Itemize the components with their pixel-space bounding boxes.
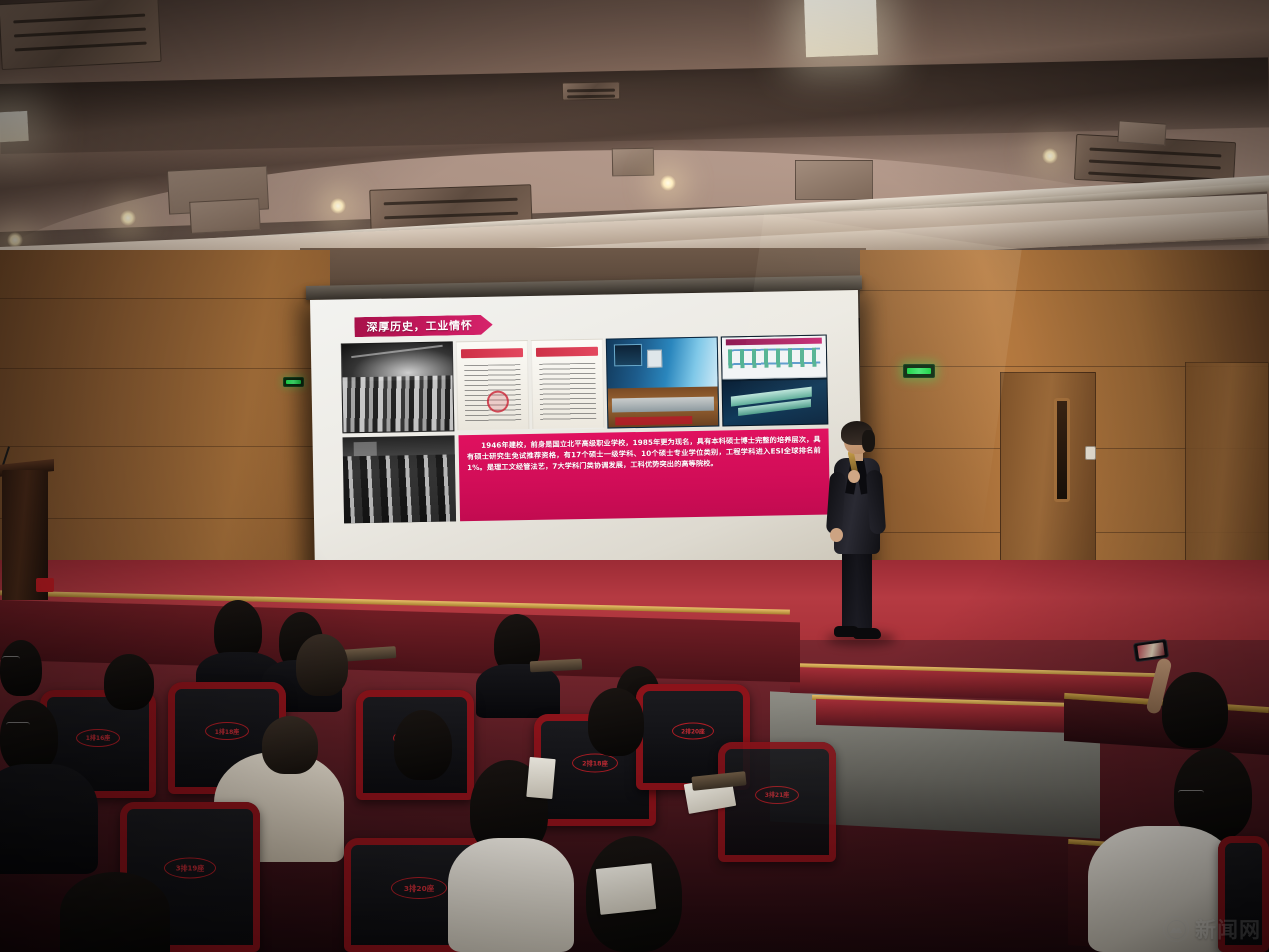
audience-shoulders (0, 764, 98, 874)
presenter-arm-right (866, 470, 886, 535)
ceiling-downlight-1 (120, 210, 136, 226)
projection-screen: 深厚历史，工业情怀 (310, 290, 863, 578)
historic-worksite-photo (343, 435, 457, 523)
audience-shoulders (476, 664, 560, 718)
laboratory-photo (606, 337, 720, 429)
light-switch[interactable] (1085, 446, 1096, 460)
ac-vent-ceiling-4 (562, 81, 620, 100)
seat-number-plate: 1排16座 (76, 729, 120, 747)
ceiling-panel-4 (795, 160, 873, 200)
seat-number-plate: 1排18座 (205, 722, 249, 740)
audience-head (104, 654, 154, 710)
ceiling-panel-5 (1117, 120, 1166, 145)
ceiling-downlight-3 (660, 175, 676, 191)
audience-head (262, 716, 318, 774)
presenter-leg-right (857, 550, 872, 630)
slide-title-banner: 深厚历史，工业情怀 (354, 315, 493, 338)
podium-red-object (36, 578, 54, 592)
presenter-leg-left (842, 550, 857, 630)
ceiling-downlight-4 (1042, 148, 1058, 164)
audience-shoulders-white (448, 838, 574, 952)
presenter-shoe-right (853, 628, 881, 639)
corporation-document (531, 339, 605, 430)
presenter-hand-left (830, 528, 843, 542)
door-window-right (1054, 398, 1070, 502)
process-schematic (721, 335, 829, 427)
slide-photo-row-top (341, 335, 829, 434)
audience-head (588, 688, 644, 756)
eyeglasses (1178, 790, 1204, 796)
seat-number-plate: 3排19座 (164, 858, 216, 879)
ceiling-skylight-panel-left (0, 111, 29, 143)
eyeglasses (2, 656, 20, 662)
news-logo-icon (1163, 916, 1189, 942)
slide-bottom-row: 1946年建校，前身是国立北平高级职业学校，1985年更为现名，具有本科硕士博士… (343, 429, 830, 524)
seat-number-plate: 3排20座 (391, 877, 447, 899)
seat-number-plate: 3排21座 (755, 786, 799, 804)
auditorium-photo-scene: 深厚历史，工业情怀 (0, 0, 1269, 952)
presentation-slide: 深厚历史，工业情怀 (310, 290, 863, 578)
handout-paper (596, 863, 657, 915)
seat-number-plate: 2排20座 (672, 722, 714, 739)
watermark-text: 新闻网 (1195, 914, 1261, 944)
presenter (820, 424, 892, 650)
handout-paper (526, 757, 555, 799)
presenter-hair-side (862, 430, 875, 452)
slide-body-textbox: 1946年建校，前身是国立北平高级职业学校，1985年更为现名，具有本科硕士博士… (459, 429, 831, 522)
watermark: 新闻网 (1163, 914, 1261, 944)
ceiling-panel-3 (612, 148, 654, 177)
audience-head (1162, 672, 1228, 748)
audience-head (394, 710, 452, 780)
ministry-document (456, 340, 530, 431)
phone-screen (1137, 643, 1165, 659)
audience-head (0, 700, 58, 772)
audience-head (296, 634, 348, 696)
eyeglasses (6, 722, 30, 728)
presenter-hand-right (848, 470, 860, 483)
audience-head (0, 640, 42, 696)
ceiling-downlight-2 (330, 198, 346, 214)
ceiling-skylight-panel (804, 0, 878, 57)
audience-head (60, 872, 170, 952)
slide-body-text: 1946年建校，前身是国立北平高级职业学校，1985年更为现名，具有本科硕士博士… (467, 435, 822, 474)
ceiling-panel-2 (189, 198, 261, 234)
historic-group-photo (341, 341, 455, 433)
wall-left (0, 250, 330, 610)
seat-number-plate: 2排18座 (572, 754, 618, 773)
exit-sign-right (903, 364, 935, 378)
ac-vent-ceiling-1 (0, 0, 162, 70)
